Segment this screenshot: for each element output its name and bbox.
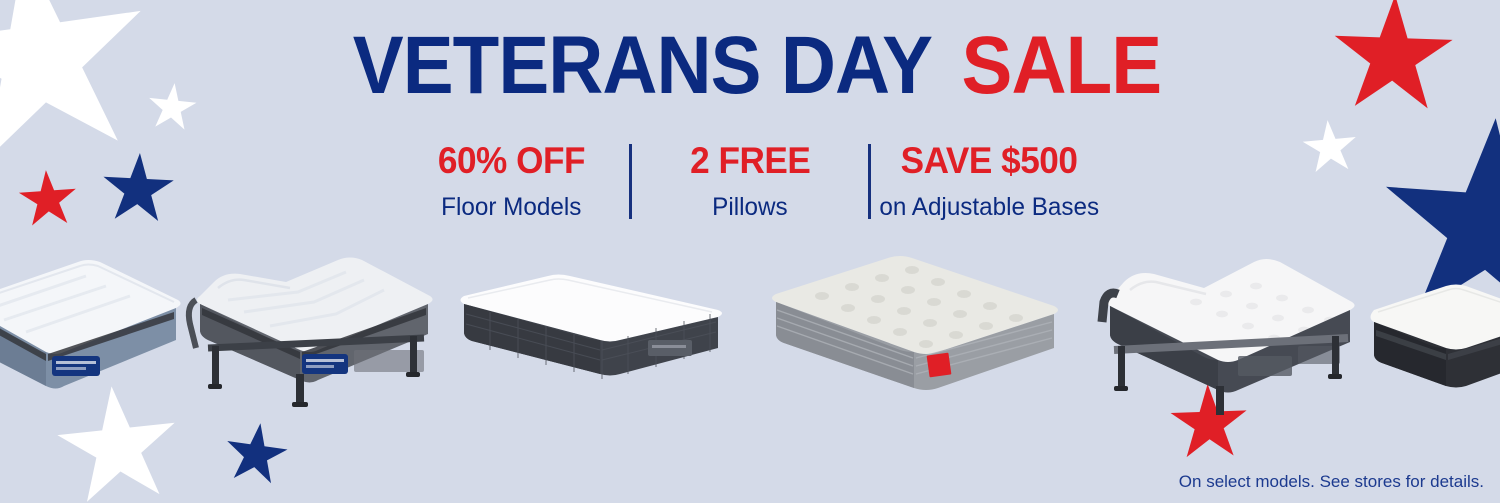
fine-print-disclaimer: On select models. See stores for details… <box>1179 471 1484 493</box>
banner-content: VETERANS DAY SALE 60% OFF Floor Models 2… <box>0 0 1500 503</box>
page-title: VETERANS DAY SALE <box>0 24 1500 108</box>
offers-row: 60% OFF Floor Models 2 FREE Pillows SAVE… <box>300 140 1200 232</box>
offer-headline-0: 60% OFF <box>437 140 584 181</box>
offer-headline-2: SAVE $500 <box>901 140 1078 181</box>
offer-item-0: 60% OFF Floor Models <box>393 140 629 222</box>
veterans-day-sale-banner: VETERANS DAY SALE 60% OFF Floor Models 2… <box>0 0 1500 503</box>
headline-navy-text: VETERANS DAY <box>353 24 932 108</box>
offer-item-2: SAVE $500 on Adjustable Bases <box>871 140 1107 222</box>
offer-subtext-0: Floor Models <box>441 192 581 222</box>
headline-red-text: SALE <box>962 24 1162 108</box>
offer-subtext-1: Pillows <box>712 192 787 222</box>
offer-subtext-2: on Adjustable Bases <box>879 192 1099 222</box>
offer-item-1: 2 FREE Pillows <box>632 140 868 222</box>
offer-headline-1: 2 FREE <box>690 140 810 181</box>
